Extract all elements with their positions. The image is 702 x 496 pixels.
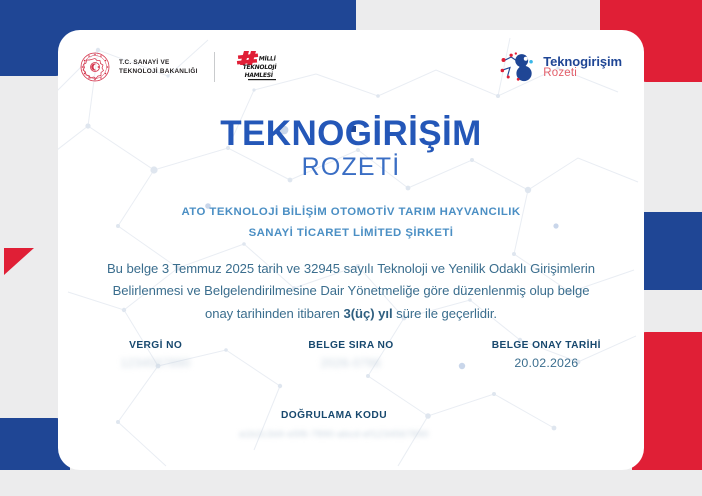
brand-word-teknogirisim: Teknogirişim [543, 55, 622, 68]
certificate-title-block: TEKNOGİRİŞİM ROZETİ [58, 116, 644, 182]
certificate-fields: VERGİ NO 1234567890 BELGE SIRA NO 2026-0… [58, 340, 644, 370]
frame-band-gray-bottom [0, 470, 702, 496]
company-name-line2: SANAYİ TİCARET LİMİTED ŞİRKETİ [88, 223, 614, 244]
field-label: BELGE ONAY TARİHİ [449, 340, 644, 351]
teknogirisim-brand-logo: Teknogirişim Rozeti [498, 50, 622, 84]
redacted-value: 2026-0796 [321, 358, 381, 370]
ministry-logo-group: T.C. SANAYİ VE TEKNOLOJİ BAKANLIĞI [80, 52, 198, 82]
field-value: 1234567890 [58, 356, 253, 370]
ministry-name-line2: TEKNOLOJİ BAKANLIĞI [119, 67, 198, 76]
field-label: DOĞRULAMA KODU [58, 410, 610, 421]
milli-teknoloji-hamlesi-logo-icon: MİLLİ TEKNOLOJİ HAMLESİ [231, 50, 287, 84]
header-divider [214, 52, 215, 82]
company-name: ATO TEKNOLOJİ BİLİŞİM OTOMOTİV TARIM HAY… [88, 202, 614, 244]
body-line-3-prefix: onay tarihinden itibaren [205, 306, 344, 321]
page-title: TEKNOGİRİŞİM [58, 116, 644, 152]
certificate-page: T.C. SANAYİ VE TEKNOLOJİ BAKANLIĞI MİLLİ… [0, 0, 702, 496]
brand-word-rozeti: Rozeti [543, 68, 622, 80]
certificate-body-text: Bu belge 3 Temmuz 2025 tarih ve 32945 sa… [68, 258, 634, 325]
teknogirisim-brand-text: Teknogirişim Rozeti [543, 55, 622, 80]
ministry-name: T.C. SANAYİ VE TEKNOLOJİ BAKANLIĞI [119, 58, 198, 76]
validity-duration: 3(üç) yıl [344, 306, 393, 321]
certificate-card: T.C. SANAYİ VE TEKNOLOJİ BAKANLIĞI MİLLİ… [58, 30, 644, 470]
page-subtitle: ROZETİ [58, 153, 644, 182]
company-name-line1: ATO TEKNOLOJİ BİLİŞİM OTOMOTİV TARIM HAY… [88, 202, 614, 223]
field-label: BELGE SIRA NO [253, 340, 448, 351]
field-value: 2026-0796 [253, 356, 448, 370]
body-line-1: Bu belge 3 Temmuz 2025 tarih ve 32945 sa… [68, 258, 634, 280]
field-belge-sira-no: BELGE SIRA NO 2026-0796 [253, 340, 448, 370]
card-header: T.C. SANAYİ VE TEKNOLOJİ BAKANLIĞI MİLLİ… [58, 30, 644, 104]
field-label: VERGİ NO [58, 340, 253, 351]
red-arrow-accent-icon [4, 248, 34, 275]
body-line-3: onay tarihinden itibaren 3(üç) yıl süre … [68, 303, 634, 325]
field-value: 20.02.2026 [449, 356, 644, 370]
redacted-value: 1234567890 [121, 358, 191, 370]
field-belge-onay-tarihi: BELGE ONAY TARİHİ 20.02.2026 [449, 340, 644, 370]
field-vergi-no: VERGİ NO 1234567890 [58, 340, 253, 370]
ministry-name-line1: T.C. SANAYİ VE [119, 58, 198, 67]
svg-text:MİLLİ: MİLLİ [258, 54, 276, 63]
ministry-seal-icon [80, 52, 110, 82]
body-line-2: Belirlenmesi ve Belgelendirilmesine Dair… [68, 280, 634, 302]
teknogirisim-network-mark-icon [498, 50, 536, 84]
field-dogrulama-kodu: DOĞRULAMA KODU a1b2c3d4-e5f6-7890-abcd-e… [58, 410, 644, 440]
field-value: a1b2c3d4-e5f6-7890-abcd-ef1234567890 [58, 426, 610, 440]
body-line-3-suffix: süre ile geçerlidir. [393, 306, 497, 321]
svg-text:HAMLESİ: HAMLESİ [244, 70, 274, 79]
redacted-value: a1b2c3d4-e5f6-7890-abcd-ef1234567890 [239, 429, 429, 440]
